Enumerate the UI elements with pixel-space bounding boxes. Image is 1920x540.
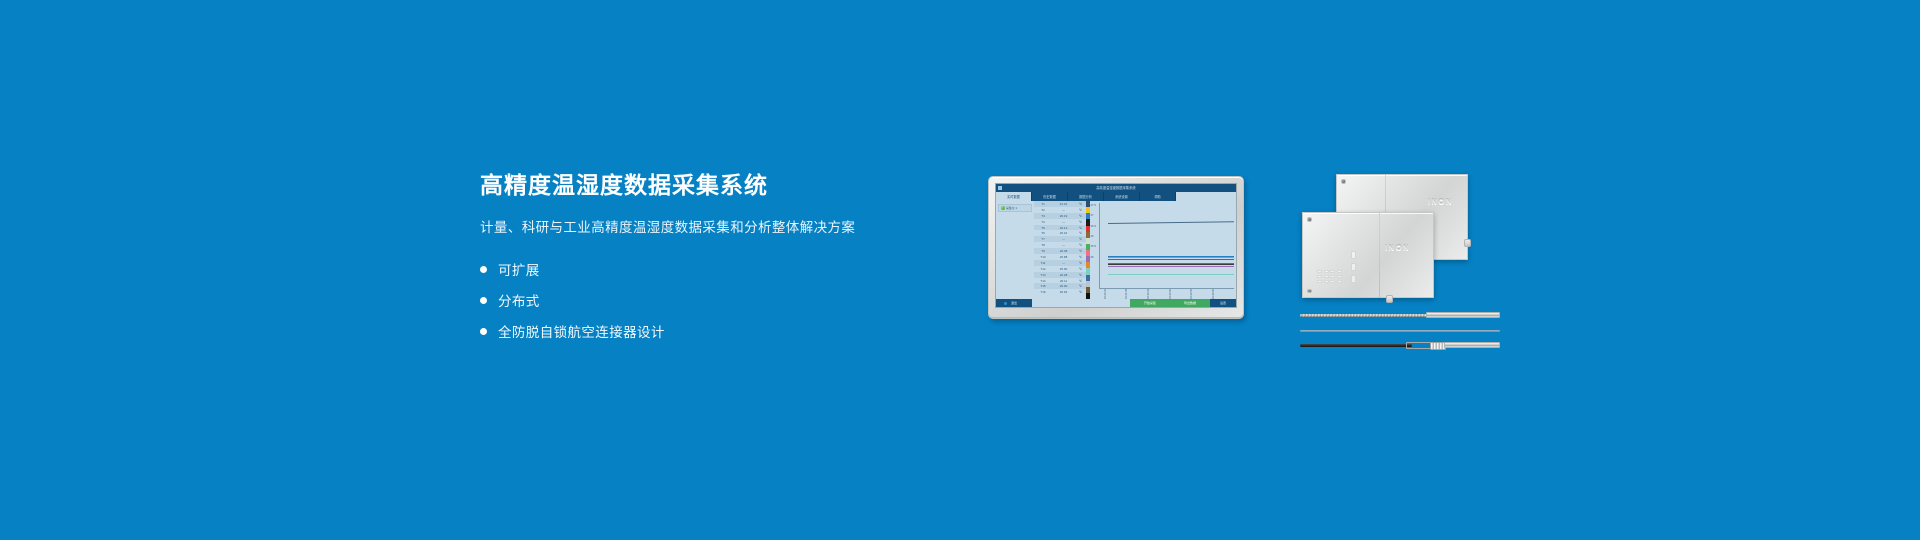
panel-pc-device: 高精度温湿度数据采集系统 实时数据 历史数据 数据分析 系统设置 帮助 采集仪 … <box>988 176 1248 322</box>
product-banner: 高精度温湿度数据采集系统 计量、科研与工业高精度温湿度数据采集和分析整体解决方案… <box>0 0 1920 540</box>
channel-name-cell: T6 <box>1034 231 1052 235</box>
screw-icon <box>1341 179 1346 184</box>
channel-name-cell: T12 <box>1034 267 1052 271</box>
feature-label: 分布式 <box>498 290 540 310</box>
channel-unit-cell: ℃ <box>1075 279 1086 283</box>
channel-value-cell: --- <box>1052 243 1075 247</box>
settings-button[interactable]: 设置 <box>1210 299 1236 307</box>
channel-name-cell: T7 <box>1034 237 1052 241</box>
channel-unit-cell: ℃ <box>1075 273 1086 277</box>
chart-plot-area <box>1099 203 1235 289</box>
channel-unit-cell: ℃ <box>1075 255 1086 259</box>
brand-logo: INON <box>1428 197 1453 206</box>
channel-name-cell: T10 <box>1034 255 1052 259</box>
app-window-title: 高精度温湿度数据采集系统 <box>996 184 1236 192</box>
chart-x-tick-label: 16:20:10 <box>1104 289 1107 299</box>
series-color-legend <box>1086 201 1090 299</box>
channel-name-cell: T15 <box>1034 284 1052 288</box>
channel-name-cell: T14 <box>1034 279 1052 283</box>
page-subtitle: 计量、科研与工业高精度温湿度数据采集和分析整体解决方案 <box>480 216 940 236</box>
channel-value-cell: 26.90 <box>1052 284 1075 288</box>
channel-unit-cell: ℃ <box>1075 261 1086 265</box>
channel-value-cell: 26.12 <box>1052 226 1075 230</box>
banner-copy: 高精度温湿度数据采集系统 计量、科研与工业高精度温湿度数据采集和分析整体解决方案… <box>480 172 940 347</box>
chart-y-tick-label: 25 <box>1091 255 1094 259</box>
list-item: 全防脱自锁航空连接器设计 <box>480 316 940 347</box>
list-item: 分布式 <box>480 285 940 316</box>
channel-name-cell: T8 <box>1034 243 1052 247</box>
channel-unit-cell: ℃ <box>1075 243 1086 247</box>
channel-name-cell: T1 <box>1034 202 1052 206</box>
channel-unit-cell: ℃ <box>1075 208 1086 212</box>
daq-enclosure-front: INON <box>1302 212 1434 298</box>
channel-value-cell: 26.88 <box>1052 255 1075 259</box>
chart-y-tick-label: 25.5 <box>1091 244 1096 248</box>
chart-series-line <box>1108 259 1234 260</box>
channel-unit-cell: ℃ <box>1075 249 1086 253</box>
chart-series-line <box>1108 274 1234 275</box>
channel-name-cell: T11 <box>1034 261 1052 265</box>
port-label-icon <box>1351 275 1356 283</box>
chart-x-tick-label: 16:21:08 <box>1125 289 1128 299</box>
bullet-dot-icon <box>480 266 487 273</box>
channel-value-cell: --- <box>1052 237 1075 241</box>
table-row[interactable]: T1626.94℃ <box>1034 289 1086 295</box>
tab-system-settings[interactable]: 系统设置 <box>1104 192 1140 201</box>
port-label-icon <box>1351 251 1356 259</box>
device-online-icon <box>1001 206 1005 210</box>
chart-series-line <box>1108 263 1234 264</box>
chart-y-tick-label: 26.5 <box>1091 224 1096 228</box>
chart-y-tick-label: 27 <box>1091 213 1094 217</box>
chart-x-tick-label: 16:24:50 <box>1212 289 1215 299</box>
channel-value-cell: --- <box>1052 208 1075 212</box>
chart-series-line <box>1108 222 1234 224</box>
sidebar-item-daq-device[interactable]: 采集仪 1 <box>998 204 1032 212</box>
channel-unit-cell: ℃ <box>1075 226 1086 230</box>
feature-list: 可扩展 分布式 全防脱自锁航空连接器设计 <box>480 254 940 347</box>
cable-gland-icon <box>1386 295 1393 303</box>
device-tree-sidebar: 采集仪 1 <box>996 201 1034 299</box>
channel-value-cell: 26.38 <box>1052 249 1075 253</box>
bottom-bar-filler <box>1032 299 1130 307</box>
page-title: 高精度温湿度数据采集系统 <box>480 172 940 200</box>
chart-y-tick-label: 27.5 <box>1091 203 1096 207</box>
legend-color-swatch <box>1086 293 1090 299</box>
tab-realtime-data[interactable]: 实时数据 <box>996 192 1032 201</box>
tab-data-analysis[interactable]: 数据分析 <box>1068 192 1104 201</box>
chart-x-tick-label: 16:23:00 <box>1169 289 1172 299</box>
panel-pc-bezel: 高精度温湿度数据采集系统 实时数据 历史数据 数据分析 系统设置 帮助 采集仪 … <box>988 176 1244 319</box>
start-acquisition-button[interactable]: 开始采集 <box>1130 299 1170 307</box>
bullet-dot-icon <box>480 297 487 304</box>
app-title-bar: 高精度温湿度数据采集系统 <box>996 184 1236 192</box>
channel-unit-cell: ℃ <box>1075 231 1086 235</box>
channel-name-cell: T5 <box>1034 226 1052 230</box>
channel-name-cell: T2 <box>1034 208 1052 212</box>
brand-logo: INON <box>1385 243 1410 252</box>
trend-chart[interactable]: 27.52726.52625.525 16:20:1016:21:0816:22… <box>1091 201 1237 299</box>
tab-help[interactable]: 帮助 <box>1140 192 1176 201</box>
bullet-dot-icon <box>480 328 487 335</box>
chart-series-line <box>1108 257 1234 258</box>
feature-label: 可扩展 <box>498 259 540 279</box>
channel-unit-cell: ℃ <box>1075 214 1086 218</box>
chart-x-tick-label: 16:22:03 <box>1147 289 1150 299</box>
channel-value-cell: 21.01 <box>1052 202 1075 206</box>
channel-value-cell: 26.94 <box>1052 290 1075 294</box>
terminal-block-icon <box>1317 270 1342 284</box>
panel-pc-screen: 高精度温湿度数据采集系统 实时数据 历史数据 数据分析 系统设置 帮助 采集仪 … <box>995 183 1237 308</box>
channel-name-cell: T3 <box>1034 214 1052 218</box>
channel-name-cell: T4 <box>1034 220 1052 224</box>
channel-value-cell: --- <box>1052 261 1075 265</box>
cable-gland-icon <box>1464 239 1471 247</box>
feature-label: 全防脱自锁航空连接器设计 <box>498 321 665 341</box>
screw-icon <box>1307 289 1312 294</box>
channel-unit-cell: ℃ <box>1075 284 1086 288</box>
channel-name-cell: T16 <box>1034 290 1052 294</box>
chart-series-line <box>1108 266 1234 267</box>
tab-history-data[interactable]: 历史数据 <box>1032 192 1068 201</box>
channel-table[interactable]: T121.01℃T2---℃T326.19℃T4---℃T526.12℃T626… <box>1034 201 1086 299</box>
daq-enclosure-group: INON INON <box>1300 172 1490 302</box>
channel-unit-cell: ℃ <box>1075 220 1086 224</box>
channel-value-cell: 26.19 <box>1052 214 1075 218</box>
channel-unit-cell: ℃ <box>1075 267 1086 271</box>
sidebar-item-label: 采集仪 1 <box>1006 206 1017 210</box>
channel-value-cell: --- <box>1052 220 1075 224</box>
channel-value-cell: 26.28 <box>1052 273 1075 277</box>
list-item: 可扩展 <box>480 254 940 285</box>
channel-name-cell: T13 <box>1034 273 1052 277</box>
app-bottom-bar: 退出 开始采集 导出数据 设置 <box>996 299 1236 307</box>
channel-value-cell: 26.11 <box>1052 279 1075 283</box>
app-main-body: 采集仪 1 T121.01℃T2---℃T326.19℃T4---℃T526.1… <box>996 201 1236 299</box>
chart-x-tick-label: 16:23:55 <box>1190 289 1193 299</box>
channel-unit-cell: ℃ <box>1075 290 1086 294</box>
port-label-icon <box>1351 263 1356 271</box>
app-tab-bar: 实时数据 历史数据 数据分析 系统设置 帮助 <box>996 192 1236 201</box>
chart-x-axis: 16:20:1016:21:0816:22:0316:23:0016:23:55… <box>1099 289 1235 299</box>
export-data-button[interactable]: 导出数据 <box>1170 299 1210 307</box>
chart-series-line <box>1108 264 1234 265</box>
channel-unit-cell: ℃ <box>1075 237 1086 241</box>
channel-name-cell: T9 <box>1034 249 1052 253</box>
channel-value-cell: 25.90 <box>1052 267 1075 271</box>
channel-unit-cell: ℃ <box>1075 202 1086 206</box>
power-led-icon <box>1004 302 1007 305</box>
screw-icon <box>1307 217 1312 222</box>
channel-value-cell: 26.01 <box>1052 231 1075 235</box>
chart-y-tick-label: 26 <box>1091 234 1094 238</box>
exit-button[interactable]: 退出 <box>996 299 1032 307</box>
sensor-probe-group <box>1300 308 1500 360</box>
tab-bar-filler <box>1176 192 1236 201</box>
